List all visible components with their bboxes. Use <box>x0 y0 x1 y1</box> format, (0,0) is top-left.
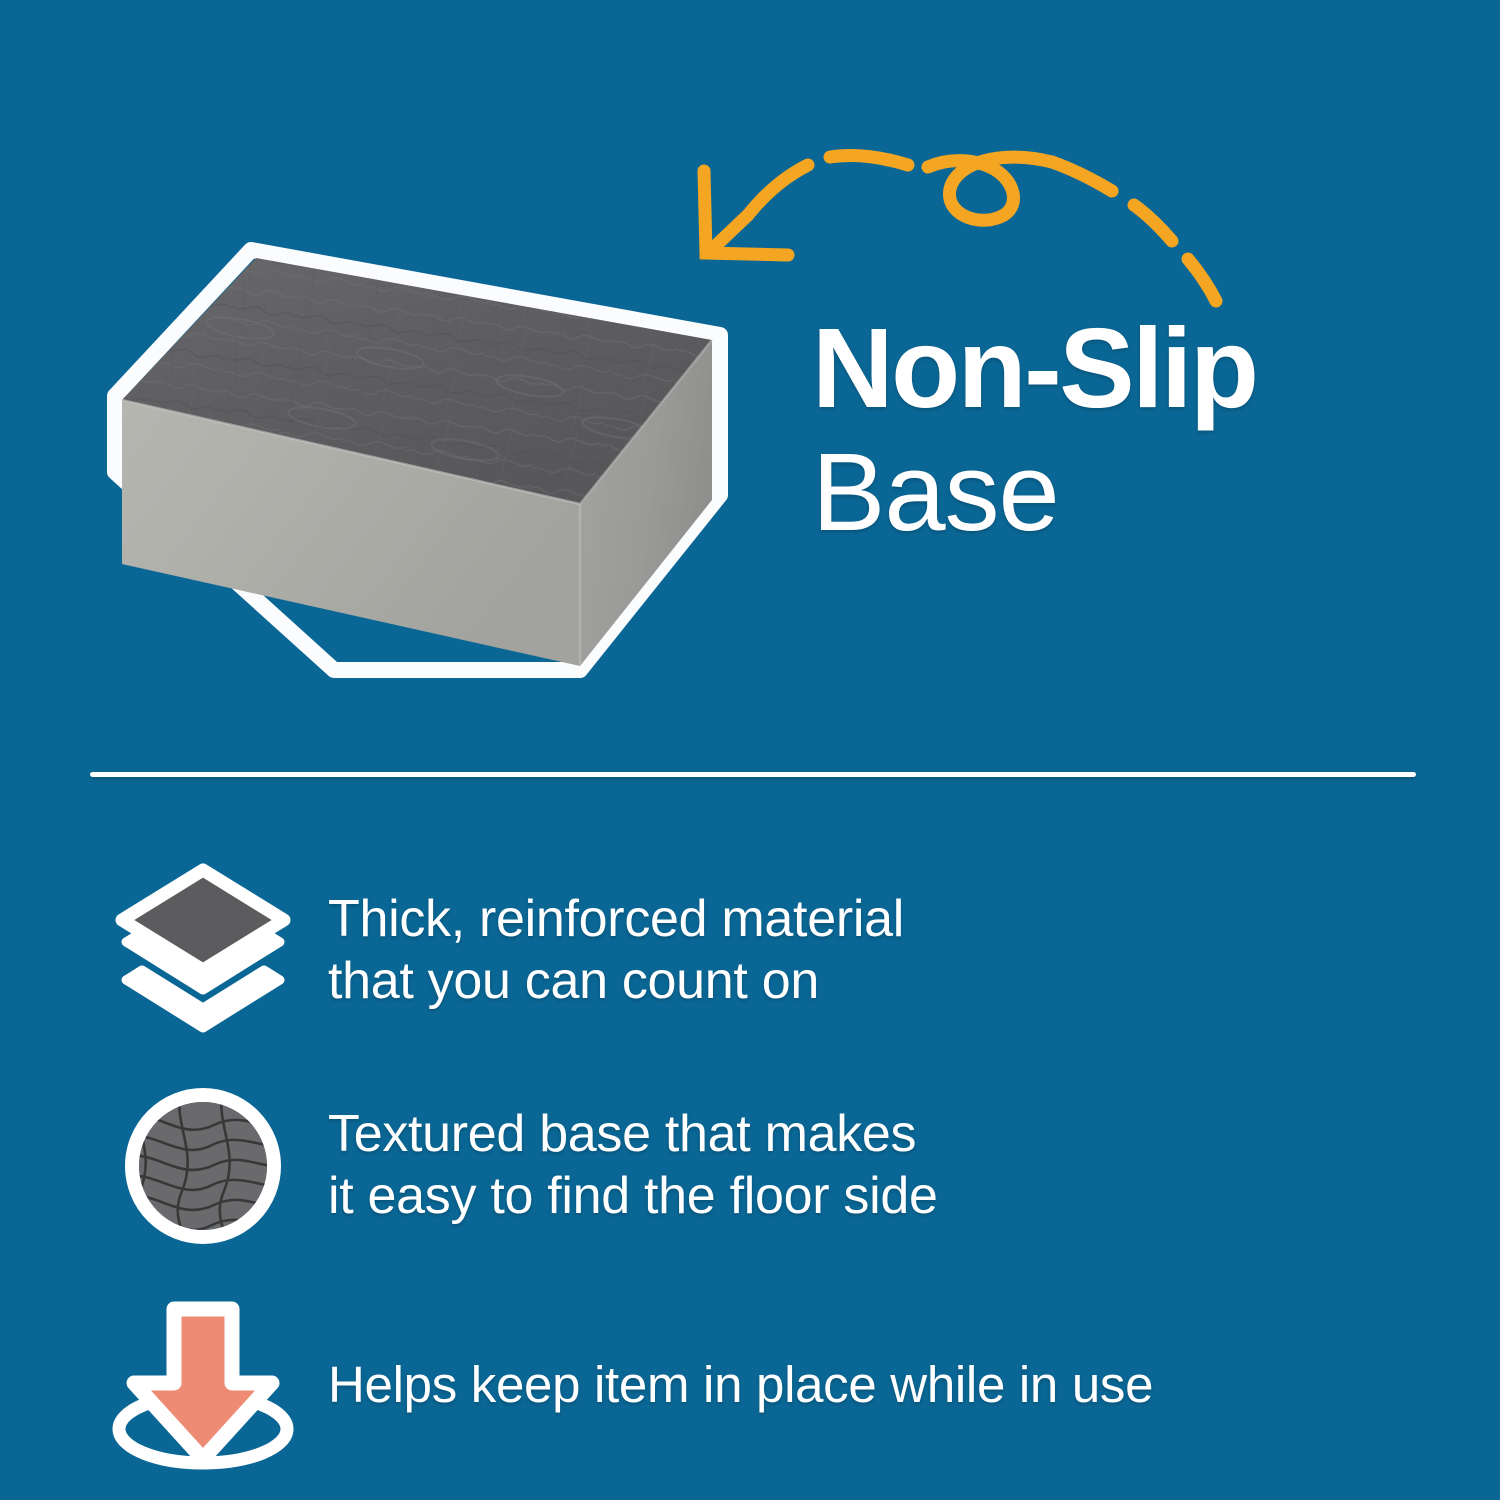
layers-icon <box>78 862 328 1040</box>
feature-text: Textured base that makes it easy to find… <box>328 1104 938 1227</box>
feature-list: Thick, reinforced material that you can … <box>78 848 1438 1493</box>
feature-item: Thick, reinforced material that you can … <box>78 848 1438 1053</box>
section-divider <box>90 772 1416 777</box>
down-arrow-on-ellipse-icon <box>78 1297 328 1475</box>
infographic-canvas: Non-Slip Base Thick, reinforced material… <box>0 0 1500 1500</box>
feature-item: Helps keep item in place while in use <box>78 1278 1438 1493</box>
headline-line-1: Non-Slip <box>812 312 1452 425</box>
curved-arrow-annotation <box>660 105 1240 335</box>
feature-text: Thick, reinforced material that you can … <box>328 889 904 1012</box>
feature-text: Helps keep item in place while in use <box>328 1355 1153 1415</box>
textured-circle-icon <box>78 1081 328 1251</box>
headline-line-2: Base <box>812 431 1452 554</box>
page-title: Non-Slip Base <box>812 312 1452 554</box>
feature-item: Textured base that makes it easy to find… <box>78 1053 1438 1278</box>
